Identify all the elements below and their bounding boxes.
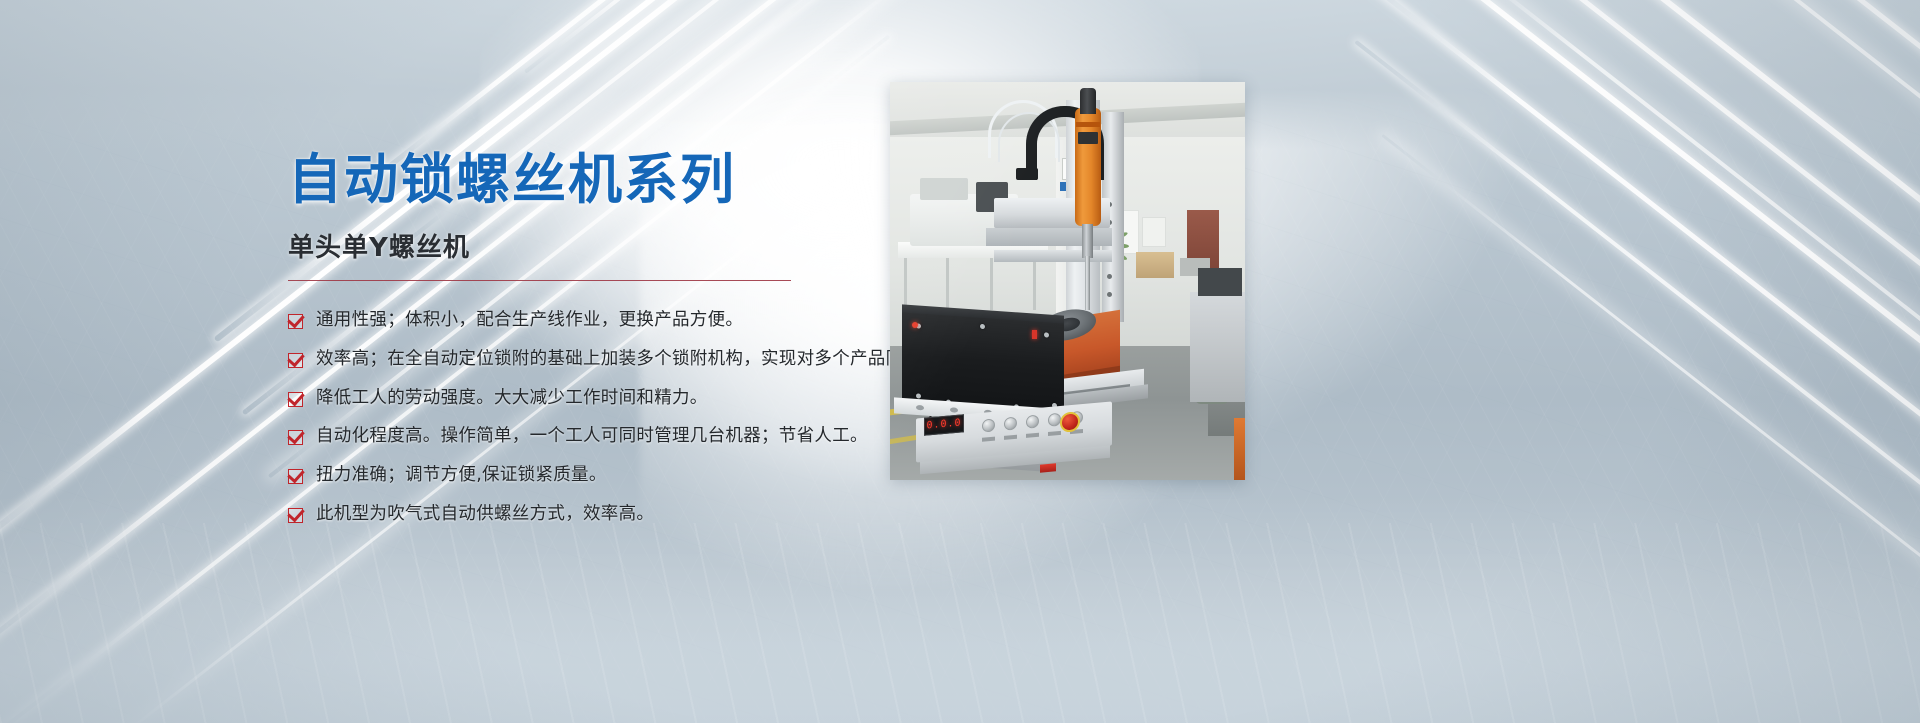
- machine-red-switch[interactable]: [1040, 463, 1056, 472]
- check-icon: [288, 314, 303, 329]
- machine-cable-chain-end: [1016, 168, 1038, 180]
- feature-text: 此机型为吹气式自动供螺丝方式，效率高。: [316, 503, 654, 527]
- workshop-equipment-top: [920, 178, 968, 200]
- machine-screwdriver-bit: [1085, 256, 1090, 310]
- feature-item: 降低工人的劳动强度。大大减少工作时间和精力。: [288, 387, 908, 411]
- check-icon: [288, 469, 303, 484]
- check-icon: [288, 430, 303, 445]
- banner-title: 自动锁螺丝机系列: [288, 150, 908, 209]
- product-banner: 自动锁螺丝机系列 单头单Y螺丝机 通用性强；体积小，配合生产线作业，更换产品方便…: [0, 0, 1920, 723]
- machine-digital-display: 0.0.0: [924, 414, 964, 435]
- feature-item: 通用性强；体积小，配合生产线作业，更换产品方便。: [288, 309, 908, 333]
- machine-x-rail: [994, 250, 1112, 262]
- workshop-carton: [1136, 252, 1174, 278]
- feature-item: 效率高；在全自动定位锁附的基础上加装多个锁附机构，实现对多个产品同时锁附。: [288, 348, 908, 372]
- machine-right-orange-part: [1234, 418, 1245, 480]
- machine-feeder-led-2: [1032, 330, 1037, 339]
- machine-display-value: 0.0.0: [926, 418, 961, 431]
- feature-item: 自动化程度高。操作简单，一个工人可同时管理几台机器；节省人工。: [288, 425, 908, 449]
- machine-right-module-top: [1198, 268, 1242, 296]
- machine-chuck: [1082, 224, 1093, 258]
- workshop-poster-small: [1142, 217, 1166, 247]
- machine-screwdriver-ring: [1076, 122, 1100, 127]
- title-divider: [288, 280, 791, 281]
- banner-subtitle: 单头单Y螺丝机: [288, 227, 908, 264]
- feature-text: 效率高；在全自动定位锁附的基础上加装多个锁附机构，实现对多个产品同时锁附。: [316, 348, 975, 372]
- feature-item: 此机型为吹气式自动供螺丝方式，效率高。: [288, 503, 908, 527]
- feature-text: 扭力准确；调节方便,保证锁紧质量。: [316, 464, 607, 488]
- feature-list: 通用性强；体积小，配合生产线作业，更换产品方便。效率高；在全自动定位锁附的基础上…: [288, 309, 908, 526]
- check-icon: [288, 353, 303, 368]
- machine-right-module: [1190, 292, 1245, 402]
- product-photo: 0.0.0: [890, 82, 1245, 480]
- machine-gantry-lower: [986, 228, 1112, 246]
- banner-content: 自动锁螺丝机系列 单头单Y螺丝机 通用性强；体积小，配合生产线作业，更换产品方便…: [288, 150, 908, 541]
- feature-text: 降低工人的劳动强度。大大减少工作时间和精力。: [316, 387, 708, 411]
- machine-screwdriver-cap: [1080, 88, 1096, 114]
- check-icon: [288, 392, 303, 407]
- workshop-bench-legs: [904, 258, 1036, 310]
- feature-text: 自动化程度高。操作简单，一个工人可同时管理几台机器；节省人工。: [316, 425, 868, 449]
- feature-text: 通用性强；体积小，配合生产线作业，更换产品方便。: [316, 309, 743, 333]
- feature-item: 扭力准确；调节方便,保证锁紧质量。: [288, 464, 908, 488]
- machine-screwdriver-label: [1078, 132, 1098, 144]
- check-icon: [288, 508, 303, 523]
- machine-feeder-led: [912, 322, 918, 328]
- product-photo-frame: 0.0.0: [890, 82, 1245, 480]
